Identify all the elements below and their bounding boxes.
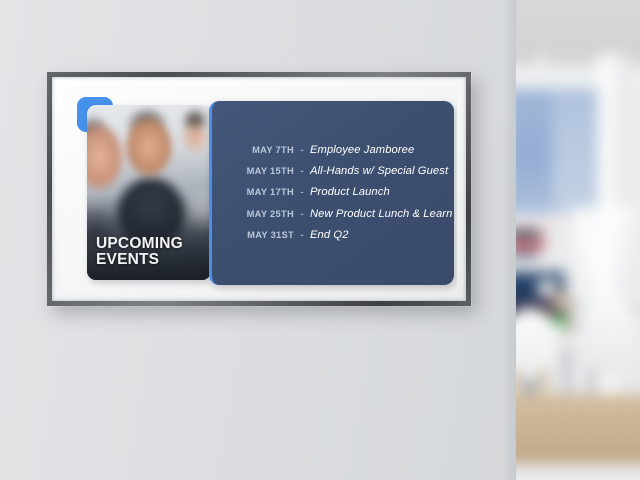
ceiling-light-icon (538, 52, 543, 66)
frame-mat: UPCOMING EVENTS MAY 7TH-Employee Jambore… (52, 77, 466, 301)
event-row: MAY 17TH-Product Launch (216, 184, 442, 201)
event-date: MAY 31ST (216, 231, 294, 240)
event-name: End Q2 (310, 230, 349, 241)
events-list: MAY 7TH-Employee JamboreeMAY 15TH-All-Ha… (212, 101, 454, 285)
event-row: MAY 7TH-Employee Jamboree (216, 142, 442, 159)
slide-title: UPCOMING EVENTS (96, 236, 205, 268)
event-separator: - (294, 146, 310, 156)
signage-slide: UPCOMING EVENTS MAY 7TH-Employee Jambore… (61, 85, 457, 293)
office-scene (516, 0, 640, 480)
event-row: MAY 25TH-New Product Lunch & Learn (216, 206, 442, 223)
event-name: All-Hands w/ Special Guest (310, 166, 448, 177)
event-date: MAY 15TH (216, 167, 294, 176)
event-name: Product Launch (310, 187, 390, 198)
picture-frame: UPCOMING EVENTS MAY 7TH-Employee Jambore… (47, 72, 471, 306)
event-name: New Product Lunch & Learn (310, 209, 452, 220)
slide-title-line2: EVENTS (96, 252, 205, 268)
event-date: MAY 7TH (216, 146, 294, 155)
event-separator: - (294, 231, 310, 241)
event-separator: - (294, 167, 310, 177)
event-name: Employee Jamboree (310, 145, 414, 156)
slide-title-line1: UPCOMING (96, 236, 205, 252)
event-row: MAY 15TH-All-Hands w/ Special Guest (216, 163, 442, 180)
event-date: MAY 25TH (216, 210, 294, 219)
event-row: MAY 31ST-End Q2 (216, 227, 442, 244)
events-panel: MAY 7TH-Employee JamboreeMAY 15TH-All-Ha… (209, 101, 454, 285)
white-chair (516, 308, 556, 376)
event-separator: - (294, 188, 310, 198)
event-date: MAY 17TH (216, 188, 294, 197)
event-photo-card: UPCOMING EVENTS (87, 105, 211, 280)
event-separator: - (294, 210, 310, 220)
wood-floor (516, 394, 640, 464)
window-glare (574, 206, 634, 356)
desk-lamp-glow (552, 298, 565, 307)
